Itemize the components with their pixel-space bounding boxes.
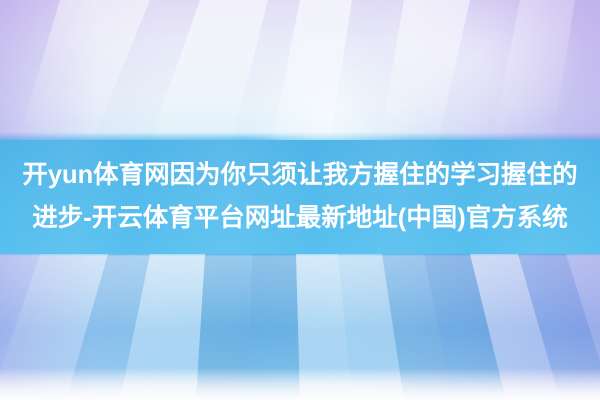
caption-line-1: 开yun体育网因为你只须让我方握住的学习握住的 (22, 154, 577, 197)
caption-line-2: 进步-开云体育平台网址最新地址(中国)官方系统 (32, 197, 567, 240)
promo-banner: 开yun体育网因为你只须让我方握住的学习握住的 进步-开云体育平台网址最新地址(… (0, 0, 600, 400)
light-bloom-top (0, 0, 600, 150)
light-bloom-bottom (0, 330, 600, 400)
caption-text-block: 开yun体育网因为你只须让我方握住的学习握住的 进步-开云体育平台网址最新地址(… (0, 140, 600, 254)
